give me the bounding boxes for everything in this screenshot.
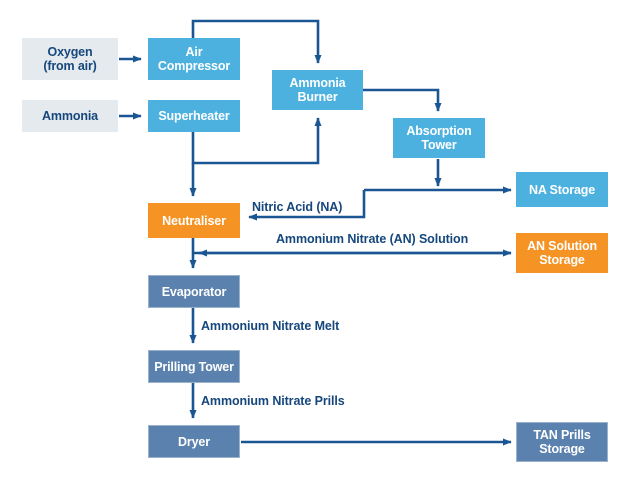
node-evaporator-label: Evaporator (162, 285, 227, 299)
node-evaporator[interactable]: Evaporator (148, 275, 240, 308)
node-air-compressor-label: Air Compressor (158, 45, 230, 73)
node-an-solution-storage[interactable]: AN Solution Storage (516, 233, 608, 273)
edge-label-nitric-acid: Nitric Acid (NA) (252, 200, 342, 214)
node-prilling-tower[interactable]: Prilling Tower (148, 350, 240, 383)
node-ammonia-burner-label: Ammonia Burner (290, 76, 346, 104)
node-absorption-tower[interactable]: Absorption Tower (393, 118, 485, 158)
node-na-storage-label: NA Storage (529, 183, 595, 197)
node-superheater-label: Superheater (158, 109, 229, 123)
node-tan-prills-storage-label: TAN Prills Storage (533, 428, 590, 456)
node-na-storage[interactable]: NA Storage (516, 172, 608, 207)
node-superheater[interactable]: Superheater (148, 100, 240, 132)
node-ammonia-burner[interactable]: Ammonia Burner (272, 70, 363, 110)
node-air-compressor[interactable]: Air Compressor (148, 38, 240, 80)
node-oxygen[interactable]: Oxygen (from air) (22, 38, 118, 80)
node-neutraliser-label: Neutraliser (162, 214, 226, 228)
node-dryer-label: Dryer (178, 435, 210, 449)
edge-ammonia-burner-to-absorption-tower (363, 90, 438, 111)
edge-label-an-solution: Ammonium Nitrate (AN) Solution (276, 232, 468, 246)
node-absorption-tower-label: Absorption Tower (406, 124, 471, 152)
node-ammonia[interactable]: Ammonia (22, 100, 118, 132)
edge-label-an-prills: Ammonium Nitrate Prills (201, 394, 345, 408)
node-ammonia-label: Ammonia (42, 109, 98, 123)
process-flow-diagram: Oxygen (from air) Ammonia Air Compressor… (0, 0, 635, 487)
node-dryer[interactable]: Dryer (148, 425, 240, 458)
node-oxygen-label: Oxygen (from air) (43, 45, 96, 73)
node-tan-prills-storage[interactable]: TAN Prills Storage (516, 422, 608, 462)
node-an-solution-storage-label: AN Solution Storage (527, 239, 597, 267)
node-prilling-tower-label: Prilling Tower (154, 360, 234, 374)
edge-label-an-melt: Ammonium Nitrate Melt (201, 319, 339, 333)
node-neutraliser[interactable]: Neutraliser (148, 203, 240, 238)
